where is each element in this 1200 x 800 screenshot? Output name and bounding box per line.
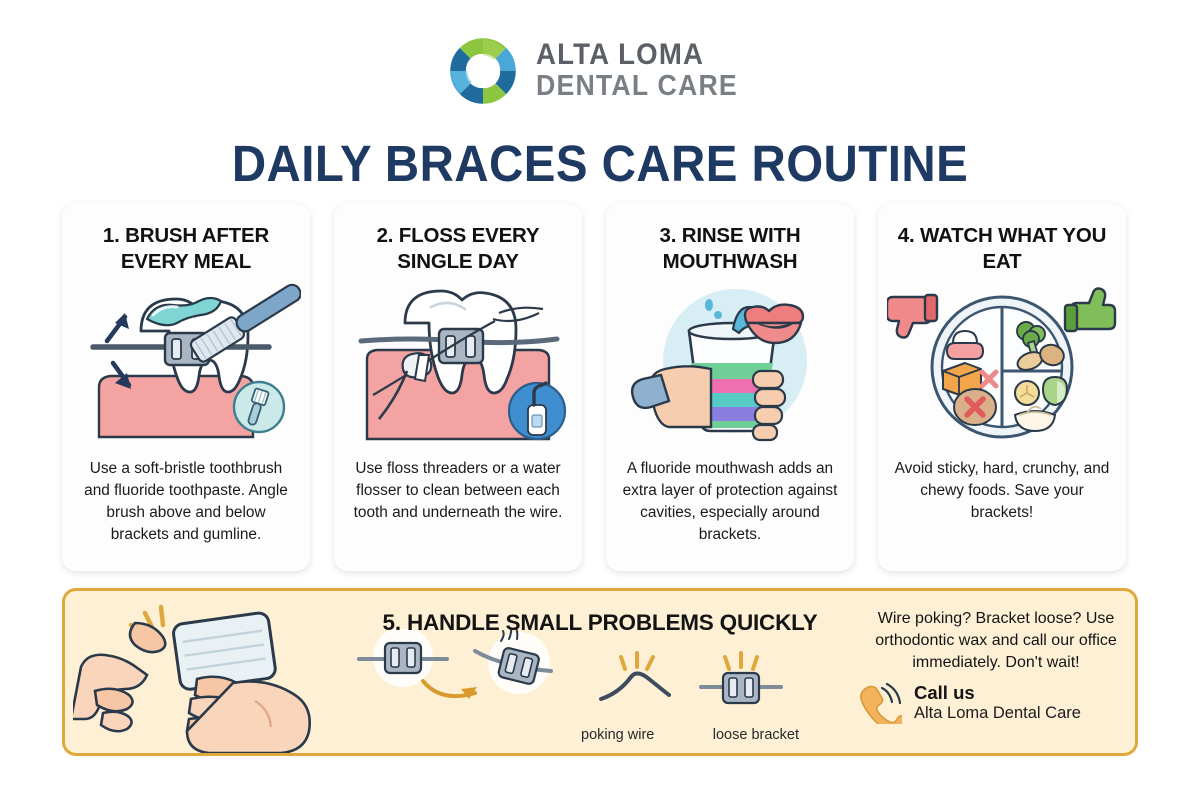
phone-ringing-icon xyxy=(858,682,902,724)
steps-card-row: 1. BRUSH AFTER EVERY MEAL xyxy=(62,203,1126,571)
step-card-3-body: A fluoride mouthwash adds an extra layer… xyxy=(620,458,840,546)
step-card-3-title: 3. RINSE WITH MOUTHWASH xyxy=(620,223,840,275)
poking-wire-label: poking wire xyxy=(581,727,654,743)
brand-line-2: DENTAL CARE xyxy=(536,73,738,101)
pinwheel-circle-logo-icon xyxy=(444,32,522,110)
brand-header: ALTA LOMA DENTAL CARE xyxy=(0,32,1200,110)
banner-title: 5. HANDLE SMALL PROBLEMS QUICKLY xyxy=(340,610,860,636)
page-title: DAILY BRACES CARE ROUTINE xyxy=(42,134,1158,193)
step-card-1: 1. BRUSH AFTER EVERY MEAL xyxy=(62,203,310,571)
divided-food-plate-icon xyxy=(887,279,1117,444)
step-card-2-body: Use floss threaders or a water flosser t… xyxy=(348,458,568,524)
infographic-page: ALTA LOMA DENTAL CARE DAILY BRACES CARE … xyxy=(0,0,1200,800)
bracket-before-after-arrow-icon xyxy=(351,629,571,704)
hand-holding-mouthwash-cup-icon xyxy=(615,279,845,444)
call-us-title: Call us xyxy=(914,682,1081,704)
brand-line-1: ALTA LOMA xyxy=(536,41,738,70)
poking-wire-loose-bracket-icons xyxy=(583,649,803,714)
brand-wordmark: ALTA LOMA DENTAL CARE xyxy=(536,41,755,100)
tooth-with-floss-threader-icon xyxy=(343,279,573,444)
call-us-practice-name: Alta Loma Dental Care xyxy=(914,704,1081,724)
step-card-4-title: 4. WATCH WHAT YOU EAT xyxy=(892,223,1112,275)
step-card-3: 3. RINSE WITH MOUTHWASH xyxy=(606,203,854,571)
tooth-with-toothbrush-and-braces-icon xyxy=(71,279,301,444)
step-card-1-body: Use a soft-bristle toothbrush and fluori… xyxy=(76,458,296,546)
loose-bracket-label: loose bracket xyxy=(713,727,799,743)
step-card-1-title: 1. BRUSH AFTER EVERY MEAL xyxy=(76,223,296,275)
hands-holding-orthodontic-wax-icon xyxy=(73,595,373,755)
step-card-4: 4. WATCH WHAT YOU EAT xyxy=(878,203,1126,571)
banner-cta-text: Wire poking? Bracket loose? Use orthodon… xyxy=(850,608,1142,673)
step-card-2: 2. FLOSS EVERY SINGLE DAY xyxy=(334,203,582,571)
call-us-block[interactable]: Call us Alta Loma Dental Care xyxy=(858,682,1081,724)
mini-icon-labels: poking wire loose bracket xyxy=(575,727,805,743)
step-card-2-title: 2. FLOSS EVERY SINGLE DAY xyxy=(348,223,568,275)
step-card-4-body: Avoid sticky, hard, crunchy, and chewy f… xyxy=(892,458,1112,524)
call-us-lines: Call us Alta Loma Dental Care xyxy=(914,682,1081,724)
